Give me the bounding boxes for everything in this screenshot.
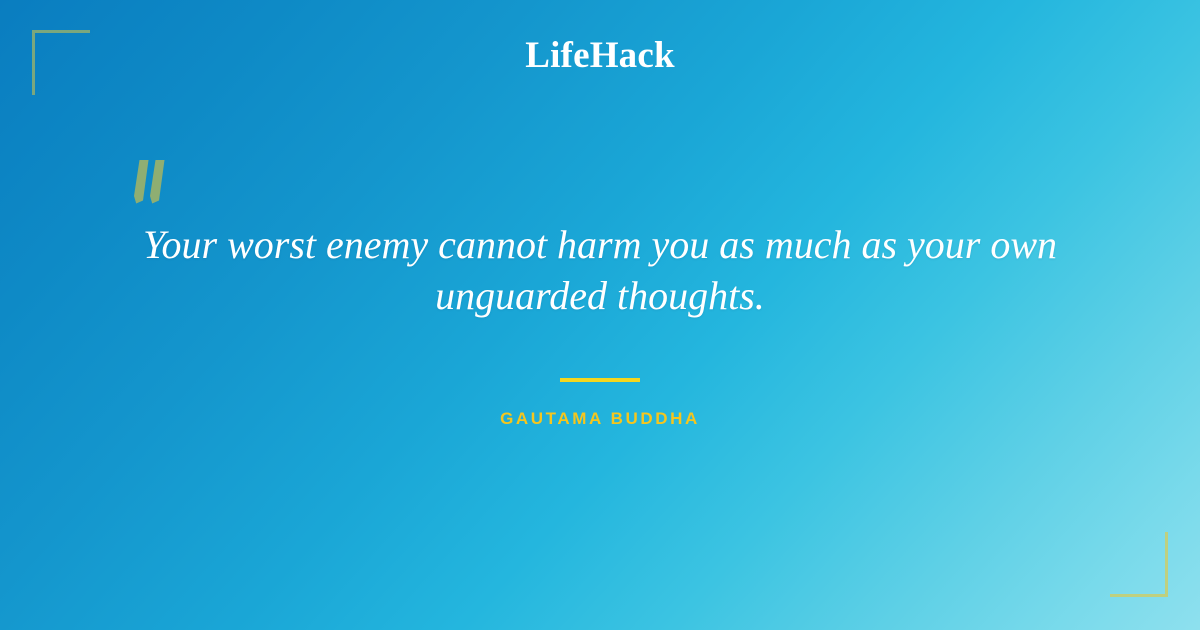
quote-attribution: GAUTAMA BUDDHA xyxy=(100,378,1100,427)
quote-author: GAUTAMA BUDDHA xyxy=(100,410,1100,427)
brand-logo: LifeHack xyxy=(0,37,1200,74)
quote-card: LifeHack Your worst enemy cannot harm yo… xyxy=(0,0,1200,630)
quote-text: Your worst enemy cannot harm you as much… xyxy=(100,220,1100,322)
quote-content: Your worst enemy cannot harm you as much… xyxy=(100,160,1100,427)
quotation-mark-icon xyxy=(128,160,174,204)
corner-bracket-bottom-right-icon xyxy=(1110,532,1168,597)
attribution-divider xyxy=(560,378,640,382)
